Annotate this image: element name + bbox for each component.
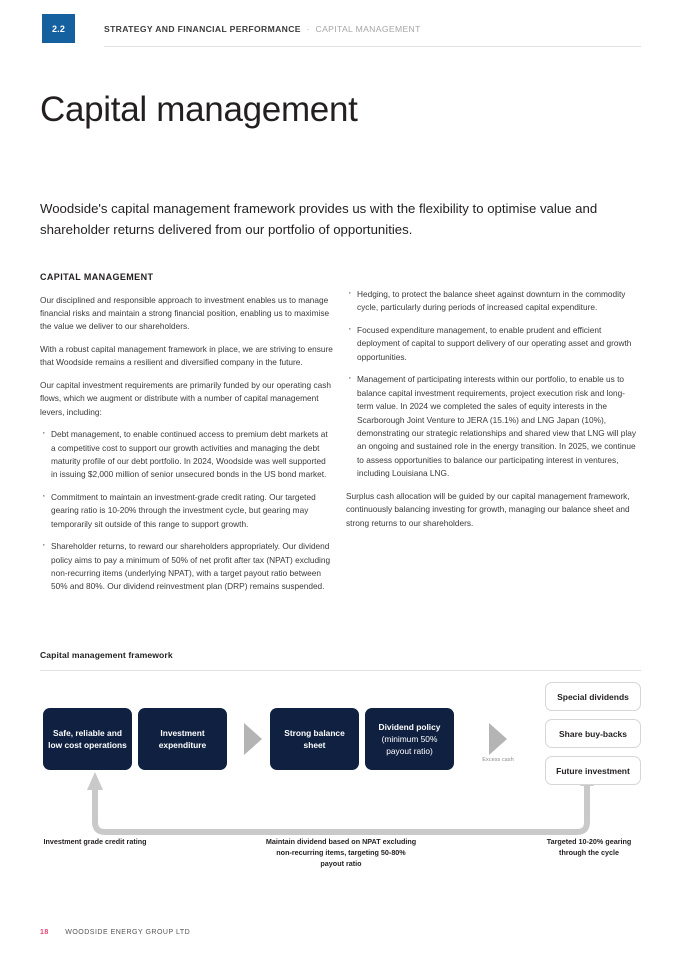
excess-cash-label: Excess cash [478,757,518,765]
flow-arrow-icon-1 [244,723,262,755]
framework-box-label: Investment expenditure [143,727,222,751]
breadcrumb-primary: STRATEGY AND FINANCIAL PERFORMANCE [104,24,301,34]
framework-box-safe-operations: Safe, reliable and low cost operations [43,708,132,770]
right-column: Hedging, to protect the balance sheet ag… [346,288,640,539]
flow-arrow-icon-2 [489,723,507,755]
list-item: Commitment to maintain an investment-gra… [40,491,334,531]
header-divider [104,46,641,47]
breadcrumb-separator: · [304,24,313,34]
right-column-bullet-list: Hedging, to protect the balance sheet ag… [346,288,640,481]
left-column-heading: CAPITAL MANAGEMENT [40,270,334,285]
page-header: 2.2 STRATEGY AND FINANCIAL PERFORMANCE ·… [0,0,679,52]
output-box-label: Special dividends [557,692,629,702]
organisation-name: WOODSIDE ENERGY GROUP LTD [65,929,190,936]
page-title: Capital management [40,91,358,130]
breadcrumb-secondary: CAPITAL MANAGEMENT [316,24,421,34]
figure-note-gearing: Targeted 10-20% gearing through the cycl… [534,836,644,858]
page-footer: 18 WOODSIDE ENERGY GROUP LTD [40,929,190,936]
page-number: 18 [40,929,49,936]
figure-note-dividend: Maintain dividend based on NPAT excludin… [264,836,418,869]
list-item: Shareholder returns, to reward our share… [40,540,334,594]
framework-box-strong-balance-sheet: Strong balance sheet [270,708,359,770]
list-item: Hedging, to protect the balance sheet ag… [346,288,640,315]
capital-management-framework-figure: Capital management framework Safe, relia… [40,650,641,880]
list-item: Focused expenditure management, to enabl… [346,324,640,364]
paragraph: Surplus cash allocation will be guided b… [346,490,640,530]
framework-box-label: Strong balance sheet [275,727,354,751]
output-box-label: Share buy-backs [559,729,627,739]
left-column: CAPITAL MANAGEMENT Our disciplined and r… [40,270,334,603]
output-box-future-investment: Future investment [545,756,641,785]
paragraph: With a robust capital management framewo… [40,343,334,370]
paragraph: Our disciplined and responsible approach… [40,294,334,334]
section-number-badge: 2.2 [42,14,75,43]
figure-note-credit-rating: Investment grade credit rating [40,836,150,847]
framework-box-investment-expenditure: Investment expenditure [138,708,227,770]
list-item: Management of participating interests wi… [346,373,640,481]
framework-box-dividend-policy: Dividend policy (minimum 50% payout rati… [365,708,454,770]
framework-box-label: Dividend policy [379,721,441,733]
left-column-bullet-list: Debt management, to enable continued acc… [40,428,334,594]
output-box-label: Future investment [556,766,630,776]
breadcrumb: STRATEGY AND FINANCIAL PERFORMANCE · CAP… [104,24,421,34]
framework-box-sublabel: (minimum 50% payout ratio) [370,733,449,757]
paragraph: Our capital investment requirements are … [40,379,334,419]
framework-box-label: Safe, reliable and low cost operations [48,727,127,751]
output-box-share-buy-backs: Share buy-backs [545,719,641,748]
list-item: Debt management, to enable continued acc… [40,428,334,482]
output-box-special-dividends: Special dividends [545,682,641,711]
standfirst-text: Woodside's capital management framework … [40,199,640,240]
